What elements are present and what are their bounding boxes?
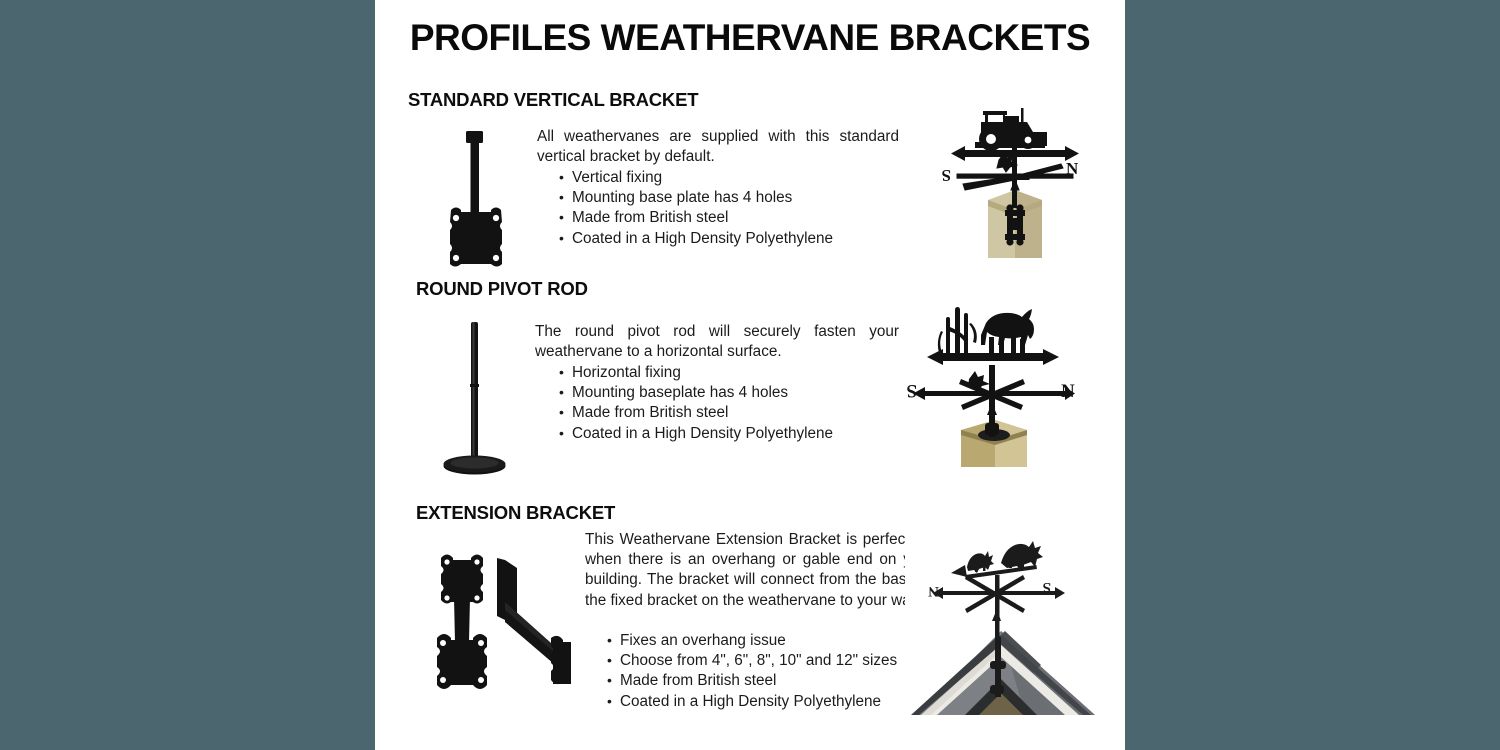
list-item: Made from British steel	[557, 403, 833, 423]
page-title: PROFILES WEATHERVANE BRACKETS	[375, 17, 1125, 59]
list-item: Mounting baseplate has 4 holes	[557, 383, 833, 403]
list-item: Coated in a High Density Polyethylene	[557, 424, 833, 444]
compass-label-s: S	[906, 380, 917, 401]
list-item: Horizontal fixing	[557, 363, 833, 383]
dog-weathervane-photo: S N	[903, 287, 1088, 467]
list-item: Fixes an overhang issue	[605, 631, 897, 651]
section-paragraph: This Weathervane Extension Bracket is pe…	[585, 530, 933, 611]
round-pivot-rod-illustration	[431, 318, 521, 478]
list-item: Coated in a High Density Polyethylene	[605, 692, 897, 712]
compass-label-s: S	[942, 166, 951, 185]
list-item: Made from British steel	[605, 671, 897, 691]
section-heading: ROUND PIVOT ROD	[416, 278, 588, 300]
roof-gable-weathervane-photo: N S	[905, 527, 1095, 715]
compass-label-n: N	[1061, 381, 1075, 402]
section-paragraph: All weathervanes are supplied with this …	[537, 127, 899, 167]
compass-label-n: N	[1066, 159, 1079, 178]
list-item: Choose from 4", 6", 8", 10" and 12" size…	[605, 651, 897, 671]
section-bullet-list: Vertical fixing Mounting base plate has …	[557, 168, 833, 249]
list-item: Coated in a High Density Polyethylene	[557, 229, 833, 249]
standard-vertical-bracket-illustration	[431, 128, 521, 268]
extension-bracket-illustration	[425, 540, 585, 690]
document-page: PROFILES WEATHERVANE BRACKETS STANDARD V…	[375, 0, 1125, 750]
screenshot-canvas: PROFILES WEATHERVANE BRACKETS STANDARD V…	[0, 0, 1500, 750]
compass-label-n: N	[928, 583, 939, 599]
section-heading: EXTENSION BRACKET	[416, 502, 615, 524]
list-item: Mounting base plate has 4 holes	[557, 188, 833, 208]
compass-label-s: S	[1043, 579, 1051, 595]
section-heading: STANDARD VERTICAL BRACKET	[408, 89, 698, 111]
list-item: Vertical fixing	[557, 168, 833, 188]
list-item: Made from British steel	[557, 208, 833, 228]
section-bullet-list: Horizontal fixing Mounting baseplate has…	[557, 363, 833, 444]
tractor-weathervane-photo: S N	[935, 98, 1095, 258]
section-bullet-list: Fixes an overhang issue Choose from 4", …	[605, 631, 897, 712]
section-paragraph: The round pivot rod will securely fasten…	[535, 322, 899, 362]
